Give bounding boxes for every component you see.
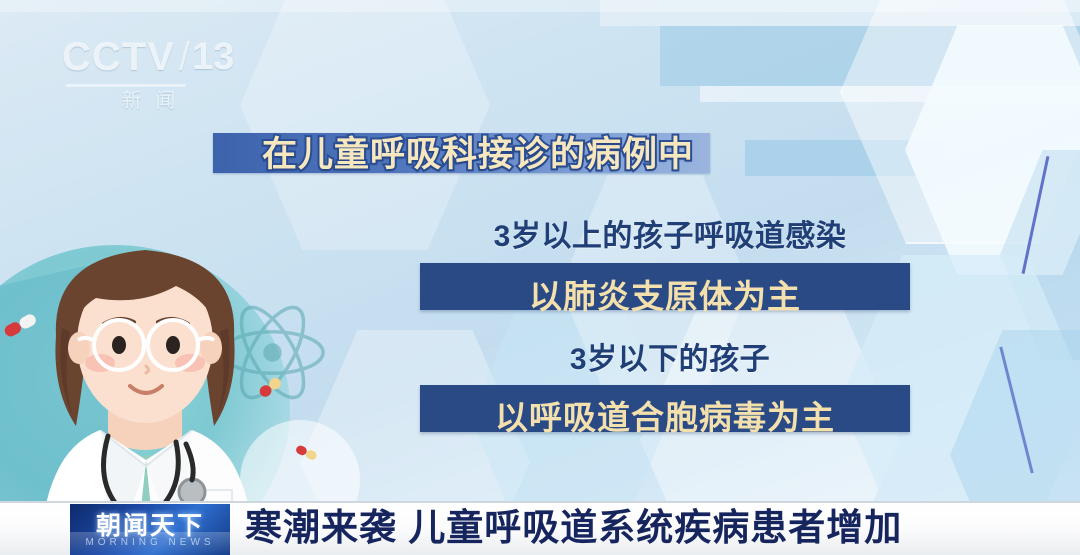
- statement-plain-line: 3岁以上的孩子呼吸道感染: [425, 211, 915, 255]
- channel-logo-subtitle: 新闻: [62, 84, 237, 113]
- statement-highlight-text: 以呼吸道合胞病毒为主: [420, 391, 910, 439]
- channel-logo-number: 13: [192, 36, 234, 79]
- statement-plain-line: 3岁以下的孩子: [425, 334, 915, 378]
- channel-logo: CCTV / 13 新闻: [62, 32, 237, 116]
- doctor-illustration: [0, 228, 300, 518]
- program-logo: 朝闻天下 MORNING NEWS: [70, 504, 230, 555]
- channel-logo-underline: [66, 84, 186, 87]
- ticker-headline: 寒潮来袭 儿童呼吸道系统疾病患者增加: [245, 505, 902, 551]
- broadcast-screen: CCTV / 13 新闻: [0, 0, 1080, 555]
- headline-text: 在儿童呼吸科接诊的病例中: [228, 126, 728, 177]
- channel-logo-text: CCTV: [62, 32, 175, 82]
- program-logo-subtitle: MORNING NEWS: [70, 537, 230, 548]
- statement-highlight-text: 以肺炎支原体为主: [420, 270, 910, 318]
- channel-logo-row: CCTV / 13: [62, 32, 237, 82]
- channel-logo-slash: /: [179, 35, 190, 80]
